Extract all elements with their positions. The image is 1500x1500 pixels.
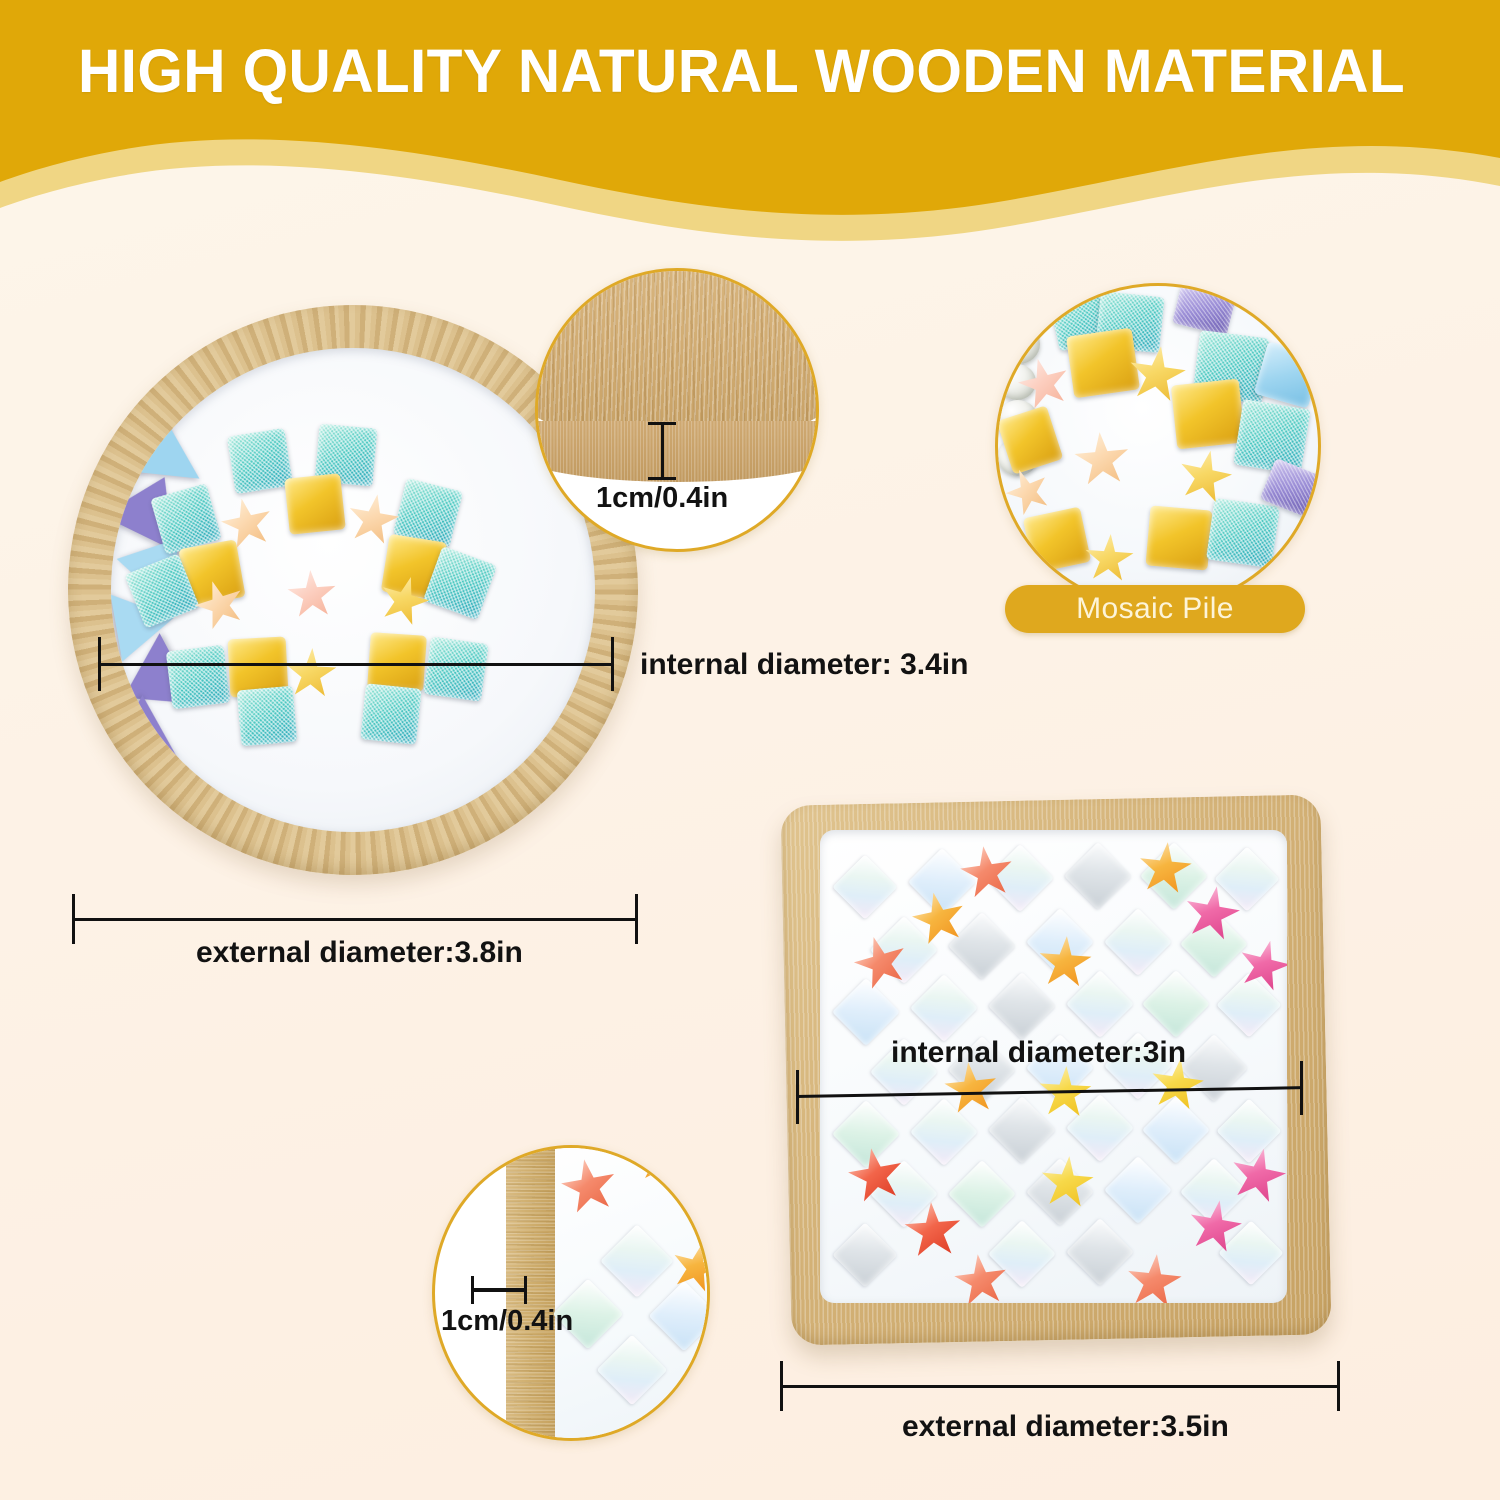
round-coaster-mosaic-field xyxy=(111,348,594,831)
mosaic-diamond xyxy=(1218,1221,1283,1286)
round-external-rule-line xyxy=(72,918,638,921)
mosaic-square-teal xyxy=(424,637,490,703)
mosaic-diamond xyxy=(948,1160,1016,1228)
mosaic-diamond xyxy=(988,972,1056,1040)
pile-square-purple xyxy=(1172,284,1236,336)
edge-diamond xyxy=(648,1280,710,1351)
edge-thickness-label: 1cm/0.4in xyxy=(441,1305,573,1338)
wood-thickness-rule-line xyxy=(661,422,664,480)
square-internal-rule-cap-left xyxy=(796,1070,799,1124)
bamboo-edge-band xyxy=(535,421,819,482)
mosaic-diamond xyxy=(1064,842,1132,910)
mosaic-square-teal xyxy=(237,686,298,747)
bamboo-edge-bar xyxy=(506,1145,555,1441)
edge-thickness-rule-cap-right xyxy=(524,1276,527,1304)
mosaic-diamond xyxy=(1066,1218,1134,1286)
pile-square-teal xyxy=(1206,498,1280,569)
pile-square-yellow xyxy=(1171,379,1245,450)
mosaic-pile-label: Mosaic Pile xyxy=(1005,585,1305,633)
pile-square-yellow xyxy=(1023,507,1091,574)
edge-thickness-rule-line xyxy=(471,1288,527,1292)
mosaic-diamond xyxy=(832,978,900,1046)
edge-thickness-rule-cap-left xyxy=(471,1276,474,1304)
square-coaster xyxy=(786,800,1326,1340)
square-external-rule-cap-right xyxy=(1337,1361,1340,1411)
mosaic-star-rose xyxy=(286,569,339,622)
edge-diamond xyxy=(600,1224,674,1298)
square-edge-mosaic-field xyxy=(555,1145,710,1441)
mosaic-square-teal xyxy=(166,645,231,710)
pile-square-yellow xyxy=(1066,328,1140,399)
square-external-rule-cap-left xyxy=(780,1361,783,1411)
pile-pearl xyxy=(998,286,1038,324)
mosaic-diamond xyxy=(948,912,1016,980)
round-internal-diameter-label: internal diameter: 3.4in xyxy=(640,648,968,682)
mosaic-diamond xyxy=(832,1100,900,1168)
round-internal-rule-cap-right xyxy=(611,637,614,691)
pile-square-yellow xyxy=(1146,505,1213,570)
mosaic-pile-inset xyxy=(995,283,1321,609)
square-internal-rule-cap-right xyxy=(1300,1061,1303,1115)
mosaic-diamond xyxy=(832,855,897,920)
mosaic-diamond xyxy=(1180,1034,1248,1102)
mosaic-diamond xyxy=(910,1098,978,1166)
edge-diamond xyxy=(596,1334,667,1405)
square-external-rule-line xyxy=(780,1385,1340,1388)
wood-thickness-rule-cap-top xyxy=(648,422,676,425)
pile-star-gold xyxy=(1082,532,1135,585)
mosaic-square-teal xyxy=(227,428,293,494)
page-title: HIGH QUALITY NATURAL WOODEN MATERIAL xyxy=(78,36,1405,106)
pile-star-peach xyxy=(1072,430,1133,491)
header-banner: HIGH QUALITY NATURAL WOODEN MATERIAL xyxy=(0,0,1500,260)
pile-pearl xyxy=(998,324,1040,364)
mosaic-square-teal xyxy=(361,684,423,746)
square-external-diameter-label: external diameter:3.5in xyxy=(902,1410,1229,1444)
round-external-diameter-label: external diameter:3.8in xyxy=(196,936,523,970)
mosaic-diamond xyxy=(908,848,976,916)
mosaic-diamond xyxy=(1104,908,1172,976)
round-internal-rule-line xyxy=(98,663,614,666)
mosaic-diamond xyxy=(832,1223,897,1288)
pile-square-teal xyxy=(1233,399,1310,475)
mosaic-diamond xyxy=(1216,1099,1281,1164)
product-infographic: HIGH QUALITY NATURAL WOODEN MATERIAL xyxy=(0,0,1500,1500)
round-external-rule-cap-left xyxy=(72,894,75,944)
mosaic-diamond xyxy=(910,974,978,1042)
round-external-rule-cap-right xyxy=(635,894,638,944)
mosaic-diamond xyxy=(1104,1156,1172,1224)
round-internal-rule-cap-left xyxy=(98,637,101,691)
mosaic-diamond xyxy=(1142,1096,1210,1164)
square-internal-diameter-label: internal diameter:3in xyxy=(891,1036,1186,1070)
mosaic-diamond xyxy=(1214,847,1279,912)
mosaic-diamond xyxy=(1142,970,1210,1038)
edge-star-orange xyxy=(633,1145,692,1188)
wood-thickness-label: 1cm/0.4in xyxy=(596,482,728,515)
mosaic-diamond xyxy=(988,1220,1056,1288)
mosaic-diamond xyxy=(988,1096,1056,1164)
mosaic-star-coral xyxy=(1123,1251,1185,1302)
mosaic-square-yellow xyxy=(285,474,347,536)
wood-thickness-rule-cap-bottom xyxy=(648,477,676,480)
edge-star-coral xyxy=(556,1154,621,1219)
